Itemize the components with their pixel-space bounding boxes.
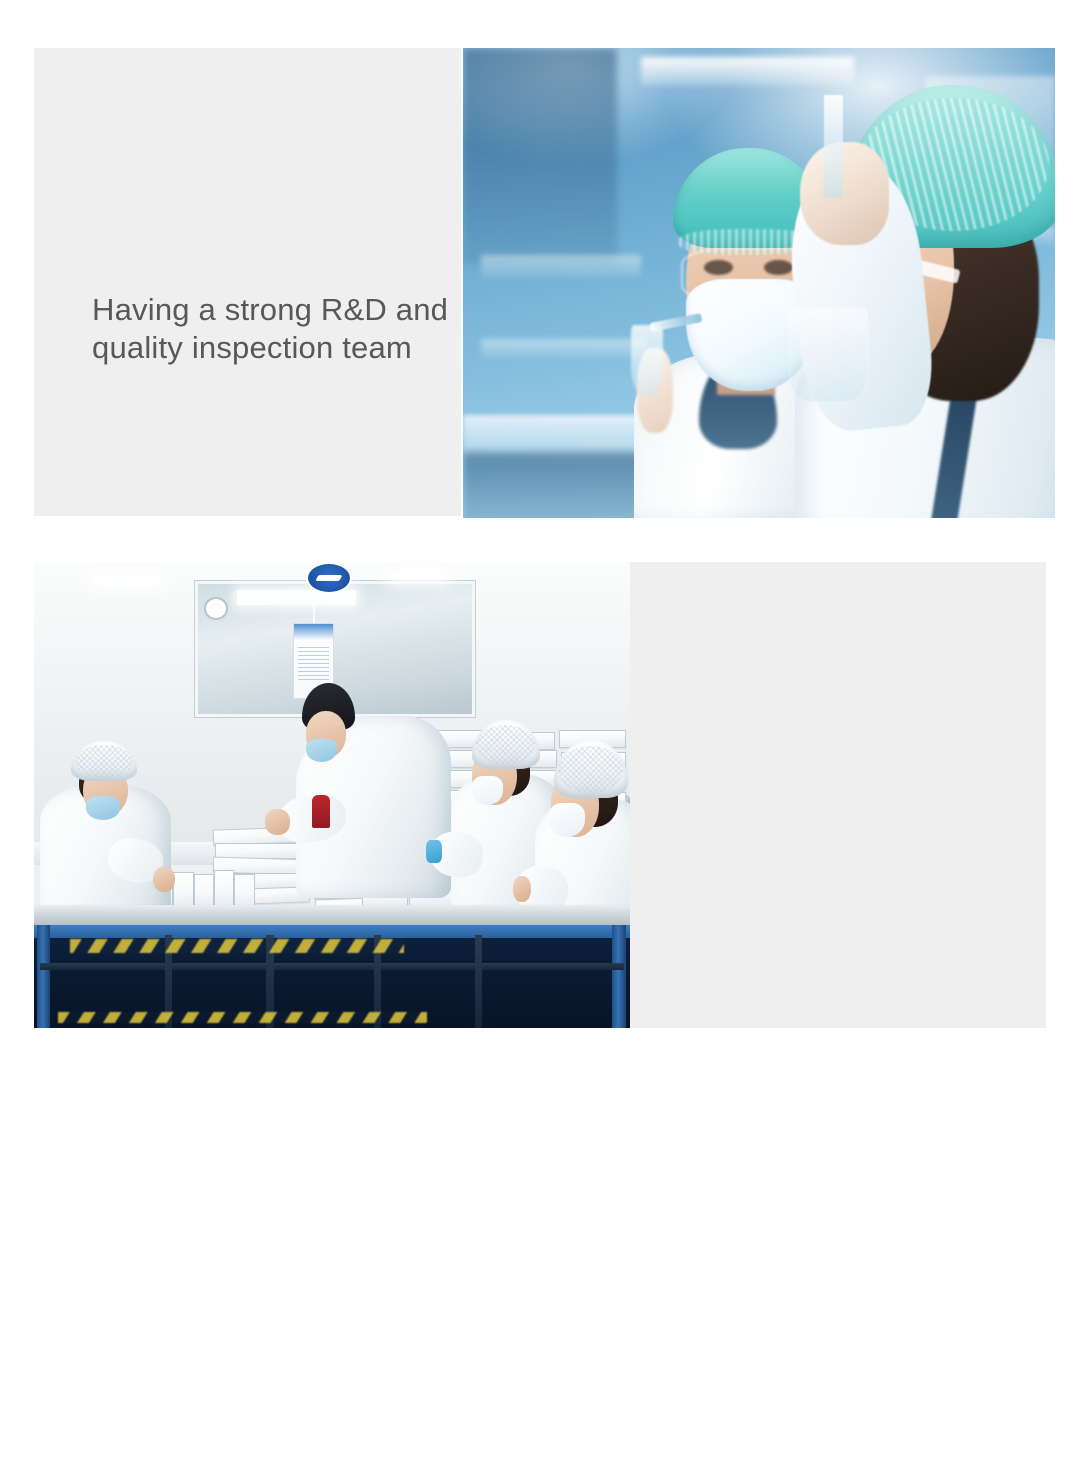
table-upright-4 (475, 935, 482, 1028)
hairnet (554, 740, 628, 798)
ceiling-light-right (392, 574, 446, 581)
floor-hazard-stripe-2 (58, 1012, 428, 1023)
lab-wall-panel-left (463, 48, 617, 264)
red-item (312, 795, 331, 828)
warehouse-photo (34, 562, 630, 1028)
page-root: Having a strong R&D and quality inspecti… (0, 0, 1080, 1080)
table-leg-right (612, 925, 626, 1028)
glass-beaker (789, 307, 868, 403)
sample-vial (824, 95, 843, 198)
floor-hazard-stripe-1 (70, 939, 404, 953)
gloved-hand (800, 142, 889, 245)
hairnet (472, 720, 540, 769)
face-mask (86, 796, 120, 819)
worker-hand (265, 809, 290, 835)
hairnet (71, 741, 137, 780)
lab-shelf-lower (481, 339, 647, 358)
worker-left (40, 730, 171, 926)
table-leg-left (37, 925, 50, 1028)
rnd-lab-photo (463, 48, 1055, 518)
eye-right (764, 260, 793, 275)
blue-glove (426, 840, 442, 862)
eye-left (704, 260, 733, 275)
rnd-text-panel: Having a strong R&D and quality inspecti… (34, 48, 461, 516)
lab-shelf-upper (481, 255, 641, 279)
face-mask (472, 776, 504, 805)
glass-flask (631, 325, 662, 394)
wall-clock-icon (204, 597, 228, 620)
table-rail-top (34, 925, 630, 937)
worker-hand (153, 867, 175, 892)
worker-bending (296, 665, 451, 898)
window-ceiling-light (237, 590, 356, 605)
face-mask (549, 803, 585, 837)
table-crossbar (40, 963, 624, 970)
face-mask (306, 739, 337, 762)
blue-wall-sign-icon (308, 564, 350, 592)
rnd-caption: Having a strong R&D and quality inspecti… (92, 291, 492, 367)
ceiling-light-left (94, 576, 160, 583)
worker-hand (513, 876, 531, 903)
warehouse-text-panel: a warehouse distribution area a warehous… (630, 562, 1046, 1028)
